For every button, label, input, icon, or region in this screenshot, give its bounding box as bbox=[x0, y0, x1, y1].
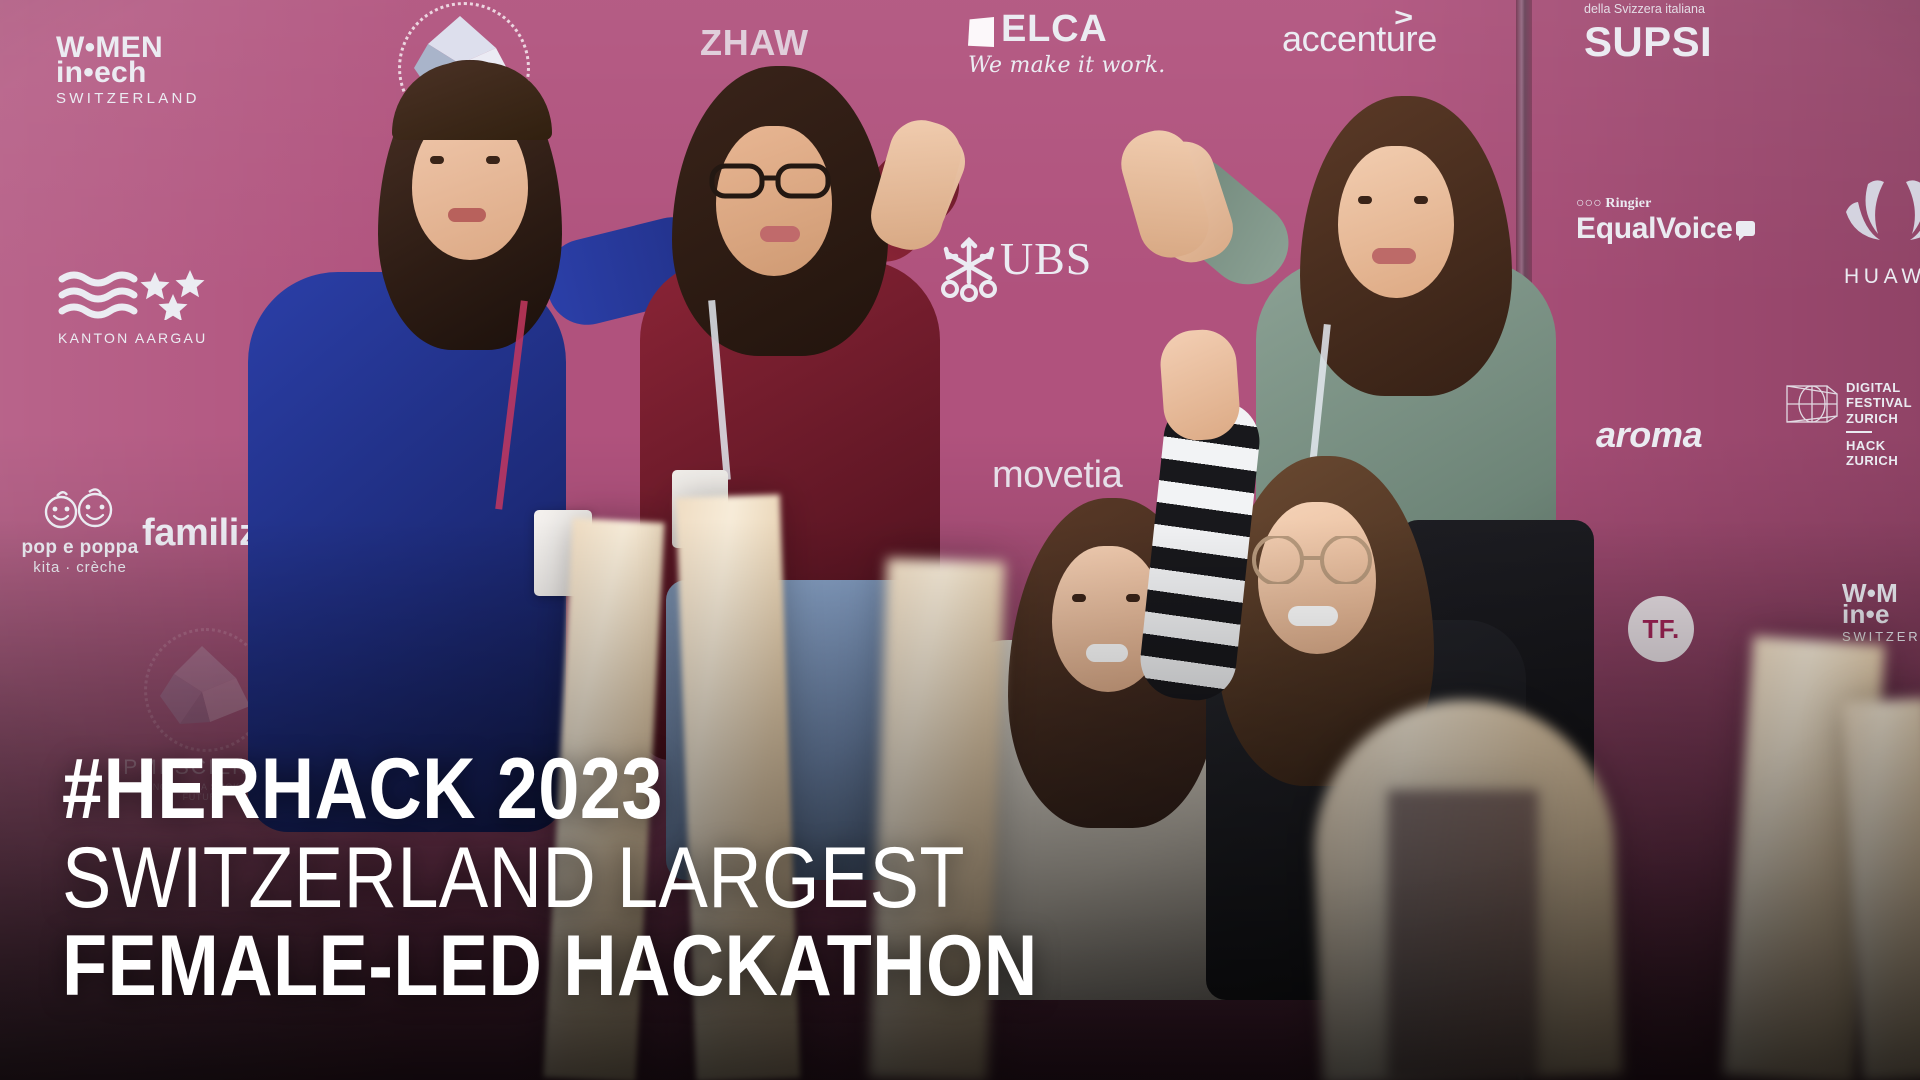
pop-e-poppa-faces-icon bbox=[37, 488, 123, 532]
elca-name: ELCA bbox=[1001, 8, 1107, 50]
headline-line-1: #HERHACK 2023 bbox=[62, 748, 1038, 831]
pop-e-poppa-sub: kita · crèche bbox=[10, 559, 150, 576]
elca-mark-icon bbox=[968, 17, 994, 47]
equalvoice-prefix: ○○○ Ringier bbox=[1576, 196, 1755, 212]
logo-zhaw: ZHAW bbox=[700, 22, 809, 64]
ubs-keys-icon bbox=[936, 236, 1002, 302]
tf-name: TF. bbox=[1643, 614, 1680, 645]
women-in-tech-2-line2: in•e bbox=[1842, 601, 1920, 627]
logo-digital-festival-zurich: DIGITAL FESTIVAL ZURICH HACK ZURICH bbox=[1846, 380, 1912, 469]
kanton-aargau-label: KANTON AARGAU bbox=[58, 330, 208, 346]
logo-familiz: familiz bbox=[142, 512, 258, 555]
women-in-tech-line3: SWITZERLAND bbox=[56, 91, 200, 106]
elca-tagline: We make it work. bbox=[968, 53, 1165, 78]
logo-equalvoice: ○○○ Ringier EqualVoice bbox=[1576, 196, 1755, 246]
digital-festival-line2: FESTIVAL bbox=[1846, 395, 1912, 410]
ubs-name: UBS bbox=[1000, 233, 1092, 284]
logo-aroma: aroma bbox=[1596, 414, 1702, 456]
supsi-line2: della Svizzera italiana bbox=[1584, 2, 1771, 18]
digital-festival-line1: DIGITAL bbox=[1846, 380, 1912, 395]
event-banner-image: W•MEN in•ech SWITZERLAND KANTON AARGAU bbox=[0, 0, 1920, 1080]
logo-women-in-tech-switzerland: W•MEN in•ech SWITZERLAND bbox=[56, 33, 200, 106]
eyeglasses-icon bbox=[706, 158, 846, 202]
logo-elca: ELCA We make it work. bbox=[968, 8, 1165, 78]
kanton-aargau-mark bbox=[58, 268, 208, 320]
accenture-arrow-icon: > bbox=[1394, 2, 1413, 33]
women-in-tech-2-line3: SWITZERL bbox=[1842, 630, 1920, 643]
accenture-name: accenture bbox=[1282, 18, 1437, 59]
huawei-flower-icon bbox=[1844, 178, 1920, 260]
huawei-name: HUAWEI bbox=[1844, 265, 1920, 289]
logo-ubs: UBS bbox=[1000, 232, 1092, 285]
hack-zurich-line1: HACK bbox=[1846, 438, 1912, 453]
headline-line-3: FEMALE-LED HACKATHON bbox=[62, 925, 1038, 1008]
wooden-letter-a-inner bbox=[1388, 790, 1538, 1080]
equalvoice-speech-bubble-icon bbox=[1736, 221, 1755, 236]
equalvoice-name: EqualVoice bbox=[1576, 212, 1733, 245]
headline-line-2: SWITZERLAND LARGEST bbox=[62, 837, 1038, 920]
zhaw-name: ZHAW bbox=[700, 22, 809, 63]
digital-festival-line3: ZURICH bbox=[1846, 411, 1912, 426]
digital-festival-divider bbox=[1846, 431, 1872, 433]
supsi-name: SUPSI bbox=[1584, 18, 1771, 66]
logo-huawei: HUAWEI bbox=[1844, 178, 1920, 289]
logo-supsi: Scuola universitaria professionale della… bbox=[1584, 0, 1771, 66]
pmi-science-origami-icon bbox=[144, 644, 264, 736]
pop-e-poppa-name: pop e poppa bbox=[10, 537, 150, 559]
round-eyeglasses-icon bbox=[1246, 536, 1396, 584]
logo-women-in-tech-switzerland-2: W•M in•e SWITZERL bbox=[1842, 580, 1920, 643]
logo-kanton-aargau: KANTON AARGAU bbox=[58, 268, 208, 346]
digital-festival-wire-icon bbox=[1784, 382, 1840, 428]
logo-tf: TF. bbox=[1628, 596, 1694, 662]
aroma-name: aroma bbox=[1596, 414, 1702, 455]
logo-accenture: > accenture bbox=[1282, 18, 1437, 60]
logo-pop-e-poppa: pop e poppa kita · crèche bbox=[10, 488, 150, 576]
women-in-tech-line2: in•ech bbox=[56, 58, 200, 88]
familiz-name: familiz bbox=[142, 512, 258, 554]
hack-zurich-line2: ZURICH bbox=[1846, 453, 1912, 468]
headline-block: #HERHACK 2023 SWITZERLAND LARGEST FEMALE… bbox=[62, 748, 1196, 1008]
logo-movetia: movetia bbox=[992, 454, 1122, 497]
movetia-name: movetia bbox=[992, 454, 1122, 496]
